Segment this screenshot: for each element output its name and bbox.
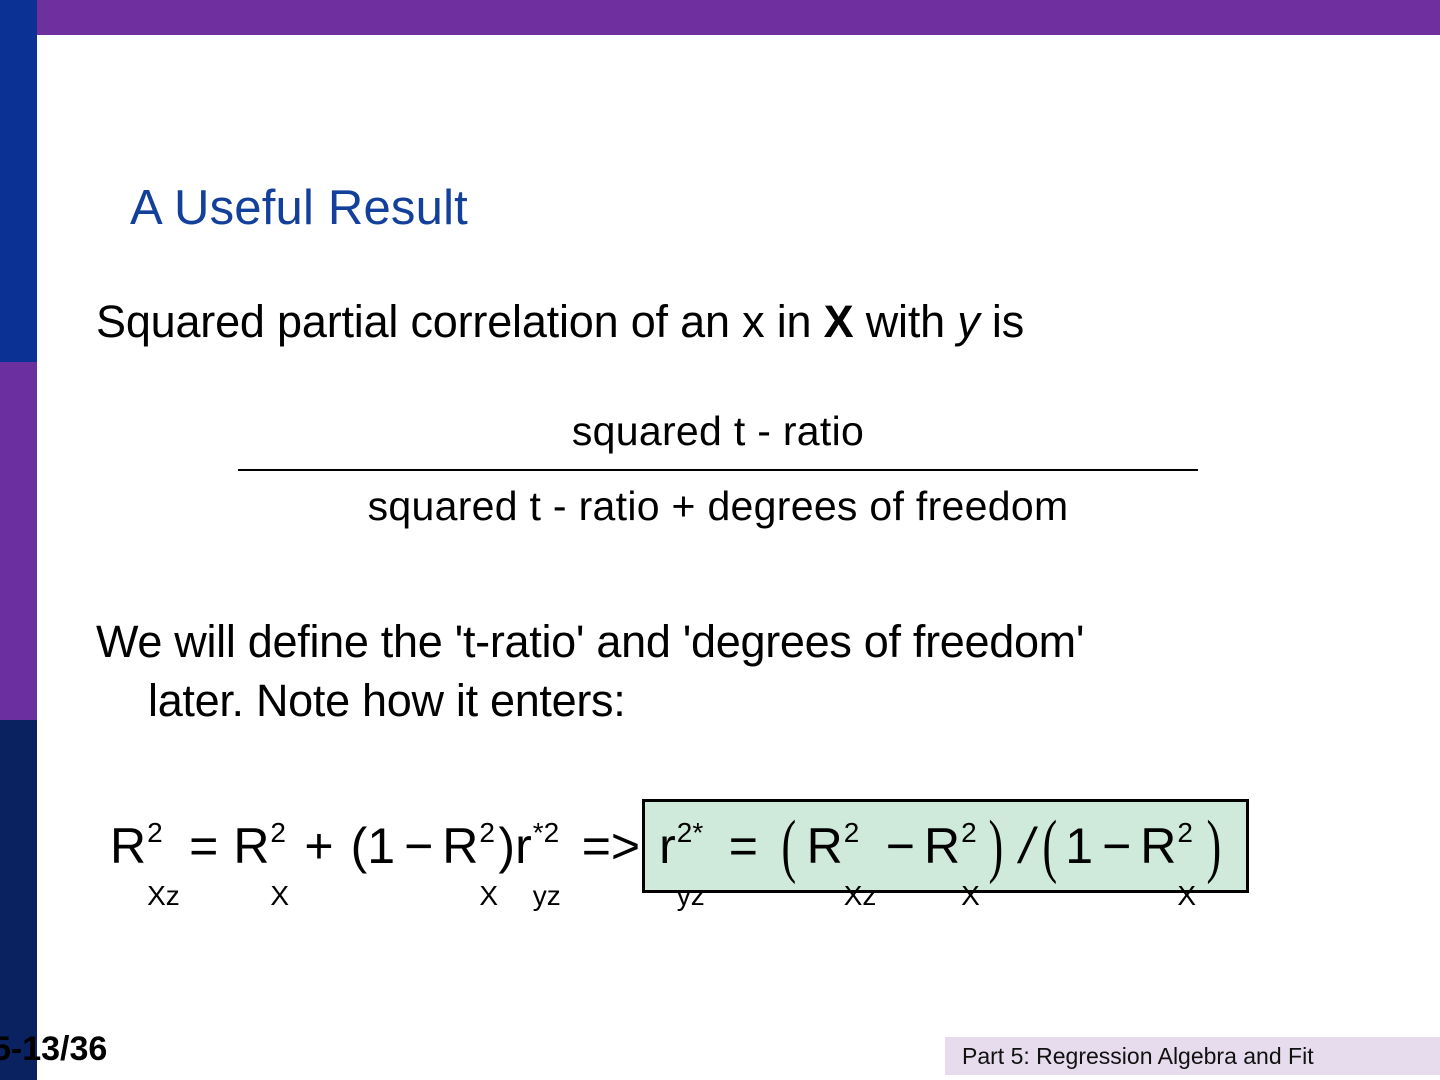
paragraph-line-2: later. Note how it enters: bbox=[96, 671, 1396, 730]
sidebar-band-navy bbox=[0, 720, 37, 1080]
term-r-star-yz: r*2yz bbox=[515, 817, 532, 875]
page-title: A Useful Result bbox=[130, 180, 468, 236]
equals-sign-left: = bbox=[180, 817, 227, 875]
body-paragraph: We will define the 't-ratio' and 'degree… bbox=[96, 612, 1396, 731]
minus-sign-left: − bbox=[395, 817, 442, 875]
footer-section-tag: Part 5: Regression Algebra and Fit bbox=[945, 1037, 1440, 1075]
minus-sign-boxed-2: − bbox=[1093, 817, 1140, 875]
term-R2Xz-sub: Xz bbox=[147, 880, 180, 912]
term-r-star-yz-sup: *2 bbox=[533, 817, 559, 849]
boxed-term-R2Xz-sub: Xz bbox=[844, 880, 877, 912]
open-paren-boxed-2: ( bbox=[1042, 806, 1057, 887]
boxed-term-R2Xz-base: R bbox=[807, 818, 843, 874]
close-paren-left: ) bbox=[498, 817, 515, 875]
implies-arrow: => bbox=[572, 817, 642, 875]
equation-row: R2Xz = R2X + ( 1 − R2X ) r*2yz => r2*yz … bbox=[110, 790, 1249, 902]
fraction-denominator: squared t - ratio + degrees of freedom bbox=[238, 471, 1198, 530]
boxed-term-r2star-yz-base: r bbox=[659, 818, 676, 874]
slide-canvas: A Useful Result Squared partial correlat… bbox=[0, 0, 1440, 1080]
paragraph-line-1: We will define the 't-ratio' and 'degree… bbox=[96, 616, 1084, 667]
page-number: 5-13/36 bbox=[0, 1030, 107, 1069]
lead-text-part2: with bbox=[853, 296, 957, 347]
term-r-star-yz-base: r bbox=[515, 818, 532, 874]
term-r-star-yz-sub: yz bbox=[533, 880, 561, 912]
term-R2X-b-sub: X bbox=[479, 880, 498, 912]
boxed-term-R2X-b: R2X bbox=[1140, 817, 1176, 875]
boxed-term-R2X-b-base: R bbox=[1140, 818, 1176, 874]
open-paren-boxed-1: ( bbox=[781, 806, 796, 887]
top-banner-bar bbox=[37, 0, 1440, 35]
sidebar-band-purple bbox=[0, 362, 37, 720]
boxed-term-R2X-a: R2X bbox=[924, 817, 960, 875]
boxed-term-R2X-b-sup: 2 bbox=[1177, 817, 1193, 849]
lead-sentence: Squared partial correlation of an x in X… bbox=[96, 296, 1024, 348]
plus-sign: + bbox=[295, 817, 342, 875]
term-R2X-a-sup: 2 bbox=[270, 817, 286, 849]
numeral-one-left: 1 bbox=[367, 817, 395, 875]
highlighted-result-box: r2*yz = ( R2Xz − R2X ) / ( 1 − R2X ) bbox=[642, 799, 1249, 893]
term-R2X-a: R2X bbox=[233, 817, 269, 875]
boxed-term-r2star-yz-sub: yz bbox=[677, 880, 705, 912]
footer-section-label: Part 5: Regression Algebra and Fit bbox=[945, 1043, 1314, 1070]
term-R2Xz-sup: 2 bbox=[147, 817, 163, 849]
term-R2X-a-sub: X bbox=[270, 880, 289, 912]
lead-italic-y: y bbox=[957, 296, 979, 347]
division-slash: / bbox=[1016, 817, 1038, 875]
lead-text-part3: is bbox=[980, 296, 1024, 347]
boxed-term-R2Xz: R2Xz bbox=[807, 817, 843, 875]
term-R2X-b-sup: 2 bbox=[479, 817, 495, 849]
lead-bold-x: X bbox=[824, 296, 854, 347]
close-paren-boxed-2: ) bbox=[1207, 806, 1222, 887]
minus-sign-boxed-1: − bbox=[877, 817, 924, 875]
term-R2X-b-base: R bbox=[442, 818, 478, 874]
boxed-term-r2star-yz: r2*yz bbox=[659, 817, 676, 875]
term-R2Xz: R2Xz bbox=[110, 817, 146, 875]
term-R2X-a-base: R bbox=[233, 818, 269, 874]
boxed-term-r2star-yz-sup: 2* bbox=[677, 817, 703, 849]
term-R2Xz-base: R bbox=[110, 818, 146, 874]
equation-left: R2Xz = R2X + ( 1 − R2X ) r*2yz => bbox=[110, 817, 642, 875]
sidebar-band-blue bbox=[0, 0, 37, 362]
boxed-term-R2Xz-sup: 2 bbox=[844, 817, 860, 849]
boxed-term-R2X-a-sup: 2 bbox=[961, 817, 977, 849]
open-paren-left: ( bbox=[351, 817, 368, 875]
ratio-fraction: squared t - ratio squared t - ratio + de… bbox=[238, 408, 1198, 530]
boxed-term-R2X-b-sub: X bbox=[1177, 880, 1196, 912]
lead-text-part1: Squared partial correlation of an x in bbox=[96, 296, 824, 347]
equals-sign-boxed: = bbox=[720, 817, 767, 875]
fraction-numerator: squared t - ratio bbox=[238, 408, 1198, 469]
numeral-one-boxed: 1 bbox=[1065, 817, 1093, 875]
boxed-term-R2X-a-sub: X bbox=[961, 880, 980, 912]
term-R2X-b: R2X bbox=[442, 817, 478, 875]
close-paren-boxed-1: ) bbox=[989, 806, 1004, 887]
boxed-term-R2X-a-base: R bbox=[924, 818, 960, 874]
